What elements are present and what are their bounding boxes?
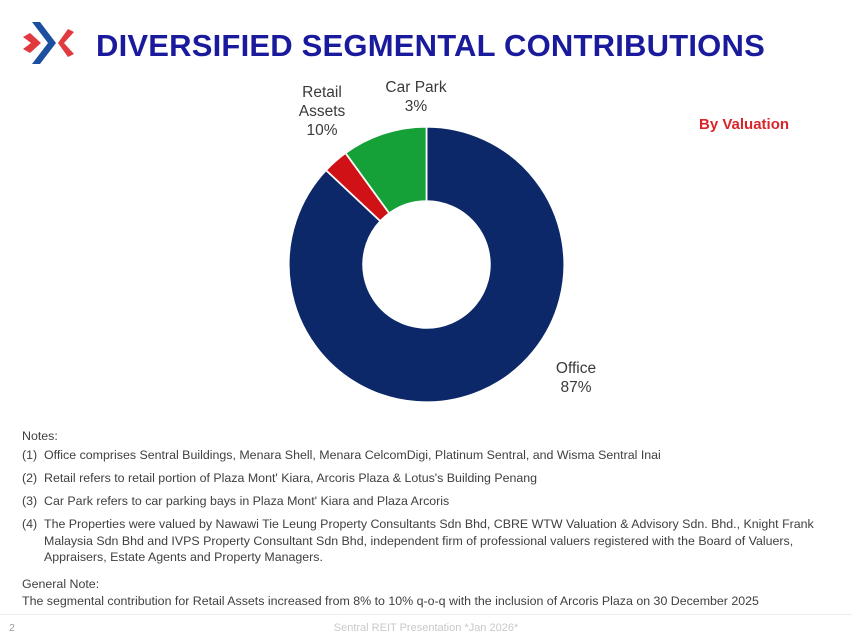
slice-label-car-park: Car Park 3% [368,78,464,116]
sentral-reit-chevron-logo-icon [18,20,74,66]
footer-caption: Sentral REIT Presentation *Jan 2026* [0,622,852,634]
chart-caption-by-valuation: By Valuation [699,116,789,133]
general-note-heading: General Note: [22,576,837,593]
notes-heading: Notes: [22,428,58,444]
note-number: (2) [22,470,44,486]
note-text: Car Park refers to car parking bays in P… [44,493,837,510]
donut-chart [283,121,570,408]
note-item: (1) Office comprises Sentral Buildings, … [22,447,837,464]
general-note: General Note: The segmental contribution… [22,576,837,609]
note-item: (3) Car Park refers to car parking bays … [22,493,837,510]
slide-header: DIVERSIFIED SEGMENTAL CONTRIBUTIONS [0,0,852,86]
donut-chart-svg [283,121,570,408]
slide-footer: 2 Sentral REIT Presentation *Jan 2026* [0,614,852,644]
note-number: (4) [22,516,44,532]
notes-section: Notes: (1) Office comprises Sentral Buil… [0,428,852,603]
general-note-text: The segmental contribution for Retail As… [22,593,837,610]
donut-slices [289,127,565,403]
note-text: Office comprises Sentral Buildings, Mena… [44,447,837,464]
donut-chart-region: By Valuation Retail Assets 10% Car Park … [0,78,852,423]
note-number: (1) [22,447,44,463]
note-text: Retail refers to retail portion of Plaza… [44,470,837,487]
note-text: The Properties were valued by Nawawi Tie… [44,516,837,566]
note-item: (4) The Properties were valued by Nawawi… [22,516,837,566]
note-item: (2) Retail refers to retail portion of P… [22,470,837,487]
note-number: (3) [22,493,44,509]
page-title: DIVERSIFIED SEGMENTAL CONTRIBUTIONS [96,28,765,64]
